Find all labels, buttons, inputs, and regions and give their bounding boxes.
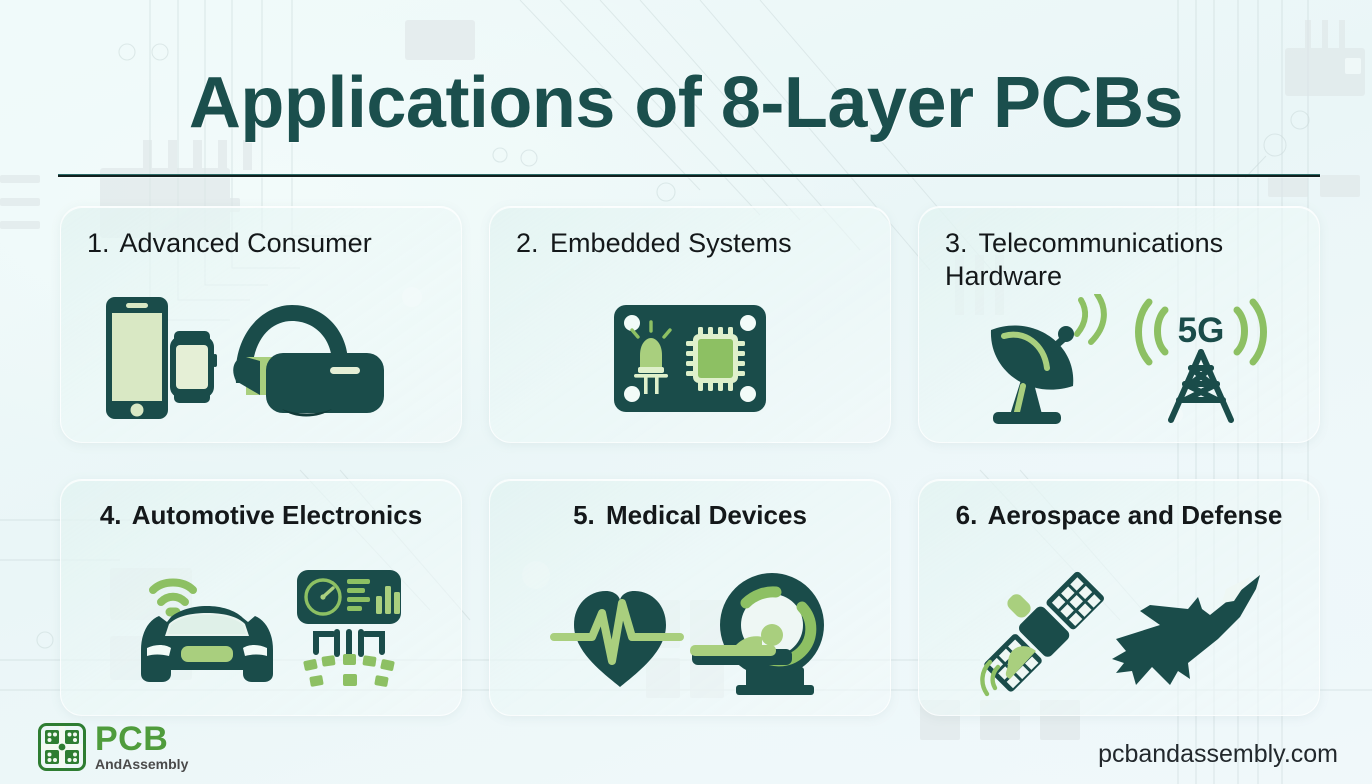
smartphone-icon — [106, 297, 168, 419]
dashboard-icon — [297, 570, 401, 687]
card-6-number: 6. — [956, 500, 978, 530]
wifi-signal-icon — [153, 582, 193, 612]
logo-primary-text: PCB — [95, 722, 188, 756]
satellite-icon — [964, 567, 1107, 695]
card-5-icons — [490, 548, 890, 715]
card-2-icons — [490, 275, 890, 442]
fighter-jet-icon — [1112, 575, 1260, 685]
card-advanced-consumer[interactable]: 1. Advanced Consumer — [60, 206, 462, 443]
pcb-chip-logo-icon — [38, 723, 86, 771]
smartwatch-icon — [170, 331, 217, 403]
card-4-label: Automotive Electronics — [132, 500, 422, 530]
5g-badge-label: 5G — [1178, 311, 1225, 350]
vr-headset-icon — [233, 305, 384, 417]
card-6-icons — [919, 548, 1319, 715]
card-1-label: Advanced Consumer — [120, 228, 372, 258]
card-automotive-electronics[interactable]: 4. Automotive Electronics — [60, 479, 462, 716]
card-3-icons: 5G — [919, 275, 1319, 442]
page-title: Applications of 8-Layer PCBs — [0, 62, 1372, 144]
consumer-devices-icon-group — [96, 291, 426, 426]
medical-icon-group — [540, 567, 840, 697]
card-5-heading: 5. Medical Devices — [490, 500, 890, 532]
card-1-icons — [61, 275, 461, 442]
card-5-label: Medical Devices — [606, 500, 807, 530]
title-divider — [58, 174, 1320, 178]
card-embedded-systems[interactable]: 2. Embedded Systems — [489, 206, 891, 443]
card-2-heading: 2. Embedded Systems — [490, 227, 890, 260]
card-2-label: Embedded Systems — [550, 228, 792, 258]
embedded-board-icon-group — [610, 301, 770, 416]
footer-logo[interactable]: PCB AndAssembly — [38, 722, 188, 771]
card-aerospace-and-defense[interactable]: 6. Aerospace and Defense — [918, 479, 1320, 716]
card-telecommunications-hardware[interactable]: 3. Telecommunications Hardware — [918, 206, 1320, 443]
automotive-icon-group — [111, 562, 411, 702]
card-medical-devices[interactable]: 5. Medical Devices — [489, 479, 891, 716]
logo-secondary-text: AndAssembly — [95, 757, 188, 771]
aerospace-icon-group — [964, 567, 1274, 697]
applications-grid: 1. Advanced Consumer — [60, 206, 1320, 716]
satellite-dish-icon — [991, 294, 1104, 424]
card-4-icons — [61, 548, 461, 715]
card-2-number: 2. — [516, 228, 539, 258]
card-3-number: 3. — [945, 228, 968, 258]
card-6-heading: 6. Aerospace and Defense — [919, 500, 1319, 532]
card-4-number: 4. — [100, 500, 122, 530]
card-1-number: 1. — [87, 228, 110, 258]
card-5-number: 5. — [573, 500, 595, 530]
5g-tower-icon: 5G — [1139, 302, 1264, 420]
logo-wordmark: PCB AndAssembly — [95, 722, 188, 771]
card-6-label: Aerospace and Defense — [988, 500, 1283, 530]
card-1-heading: 1. Advanced Consumer — [61, 227, 461, 260]
card-4-heading: 4. Automotive Electronics — [61, 500, 461, 532]
site-url[interactable]: pcbandassembly.com — [1098, 740, 1338, 769]
car-icon — [141, 606, 273, 682]
telecom-icon-group: 5G — [969, 294, 1269, 424]
heart-pulse-icon — [554, 591, 680, 687]
mri-scanner-icon — [690, 573, 824, 695]
